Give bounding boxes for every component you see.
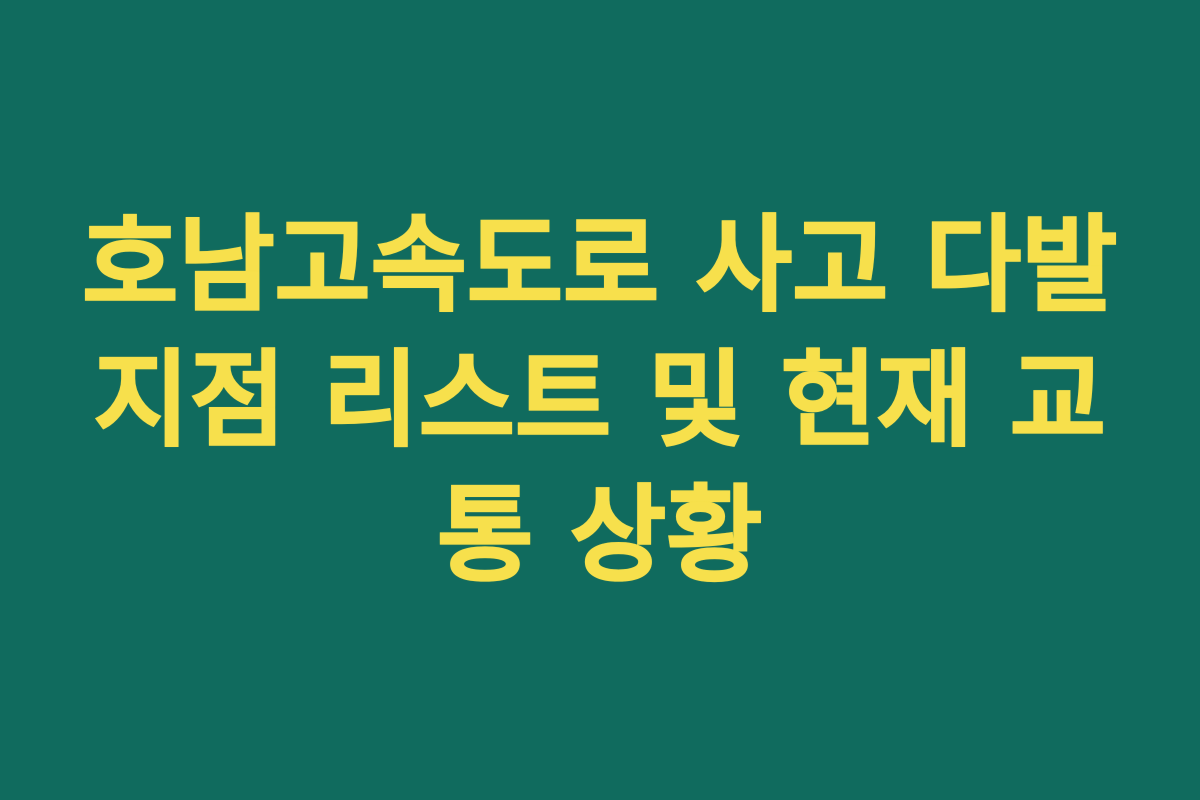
headline-line-3: 통 상황 bbox=[70, 468, 1130, 603]
headline-line-2: 지점 리스트 및 현재 교 bbox=[70, 333, 1130, 468]
headline-container: 호남고속도로 사고 다발 지점 리스트 및 현재 교 통 상황 bbox=[70, 198, 1130, 603]
headline-line-1: 호남고속도로 사고 다발 bbox=[70, 198, 1130, 333]
title-banner: 호남고속도로 사고 다발 지점 리스트 및 현재 교 통 상황 bbox=[0, 0, 1200, 800]
page-title: 호남고속도로 사고 다발 지점 리스트 및 현재 교 통 상황 bbox=[70, 198, 1130, 603]
